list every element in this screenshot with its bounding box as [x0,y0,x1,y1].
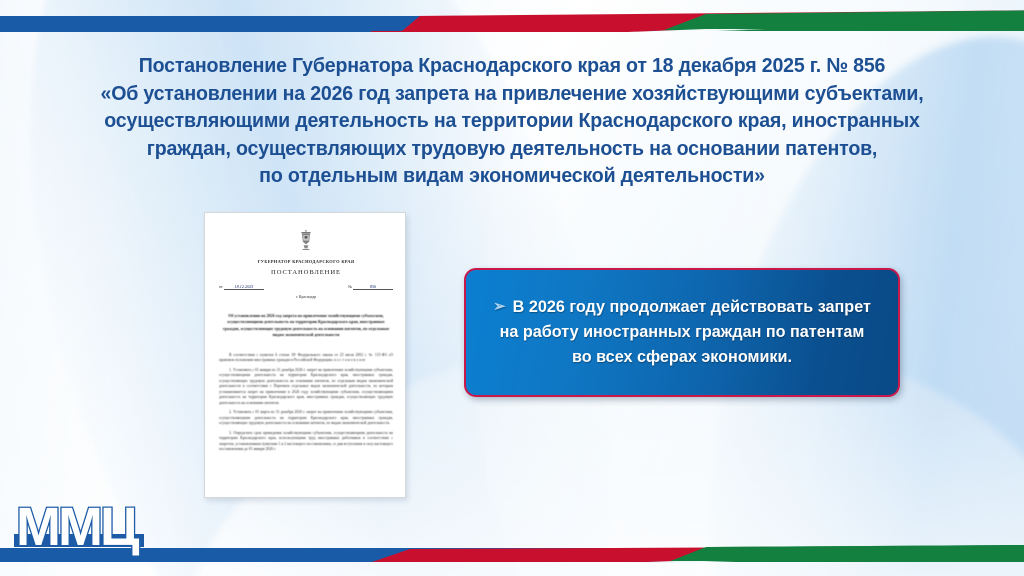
slide-title: Постановление Губернатора Краснодарского… [0,52,1024,190]
callout-box: ➢В 2026 году продолжает действовать запр… [464,268,900,397]
top-banner [0,8,1024,38]
bottom-banner-green-tail [672,545,1024,561]
title-line-3: осуществляющими деятельность на территор… [23,107,1001,135]
logo[interactable]: ММЦ [14,498,144,560]
document-subject: Об установлении на 2026 год запрета на п… [219,313,393,339]
document-date-prefix: от [219,284,223,289]
banner-blue-stripe [0,16,700,32]
bottom-banner-green-stripe [668,545,1024,562]
document-city: г. Краснодар [219,295,393,299]
banner-green-stripe [660,13,1024,31]
title-line-5: по отдельным видам экономической деятель… [23,162,1001,190]
banner-white-split [620,16,1024,33]
banner-blue-stripe-overlay [0,16,690,31]
banner-green-tail [668,12,1024,29]
coat-of-arms-icon [297,229,315,253]
slide-root: Постановление Губернатора Краснодарского… [0,0,1024,576]
banner-red-stripe-overlay [402,10,1024,31]
bottom-banner [0,534,1024,564]
title-line-1: Постановление Губернатора Краснодарского… [23,52,1001,80]
document-paragraph: 3. Определить срок приведения хозяйствую… [219,431,393,453]
document-header: ГУБЕРНАТОР КРАСНОДАРСКОГО КРАЯ [219,259,393,264]
document-meta: от 18.12.2025 № 856 [219,284,393,290]
banner-red-stripe [370,14,1024,32]
document-page: ГУБЕРНАТОР КРАСНОДАРСКОГО КРАЯ ПОСТАНОВЛ… [219,223,393,489]
callout-line-1-text: В 2026 году продолжает действовать запре… [513,298,871,316]
document-date: от 18.12.2025 [219,284,264,290]
bottom-banner-white-notch [622,548,1024,563]
document-number: № 856 [348,284,393,290]
banner-white-notch [628,15,1024,32]
banner-green-stripe-overlay [664,10,1024,30]
bottom-banner-red-stripe [372,546,1024,562]
document-number-prefix: № [348,284,352,289]
logo-text: ММЦ [16,498,140,557]
document-body: В соответствии с пунктом 6 статьи 18¹ Фе… [219,353,393,453]
document-paragraph: 1. Установить с 01 января по 31 декабря … [219,368,393,407]
callout-text: ➢В 2026 году продолжает действовать запр… [466,295,898,370]
callout-line-3: во всех сферах экономики. [466,345,898,370]
callout-line-2: на работу иностранных граждан по патента… [466,320,898,345]
document-date-value: 18.12.2025 [224,284,264,290]
document-number-value: 856 [353,284,393,290]
title-line-4: граждан, осуществляющих трудовую деятель… [23,135,1001,163]
arrow-bullet-icon: ➢ [493,294,506,319]
callout-line-1: ➢В 2026 году продолжает действовать запр… [466,295,898,320]
document-thumbnail[interactable]: ГУБЕРНАТОР КРАСНОДАРСКОГО КРАЯ ПОСТАНОВЛ… [204,212,406,498]
title-line-2: «Об установлении на 2026 год запрета на … [23,80,1001,108]
document-paragraph: В соответствии с пунктом 6 статьи 18¹ Фе… [219,353,393,364]
document-paragraph: 2. Установить с 01 марта по 31 декабря 2… [219,410,393,427]
document-type: ПОСТАНОВЛЕНИЕ [219,269,393,276]
